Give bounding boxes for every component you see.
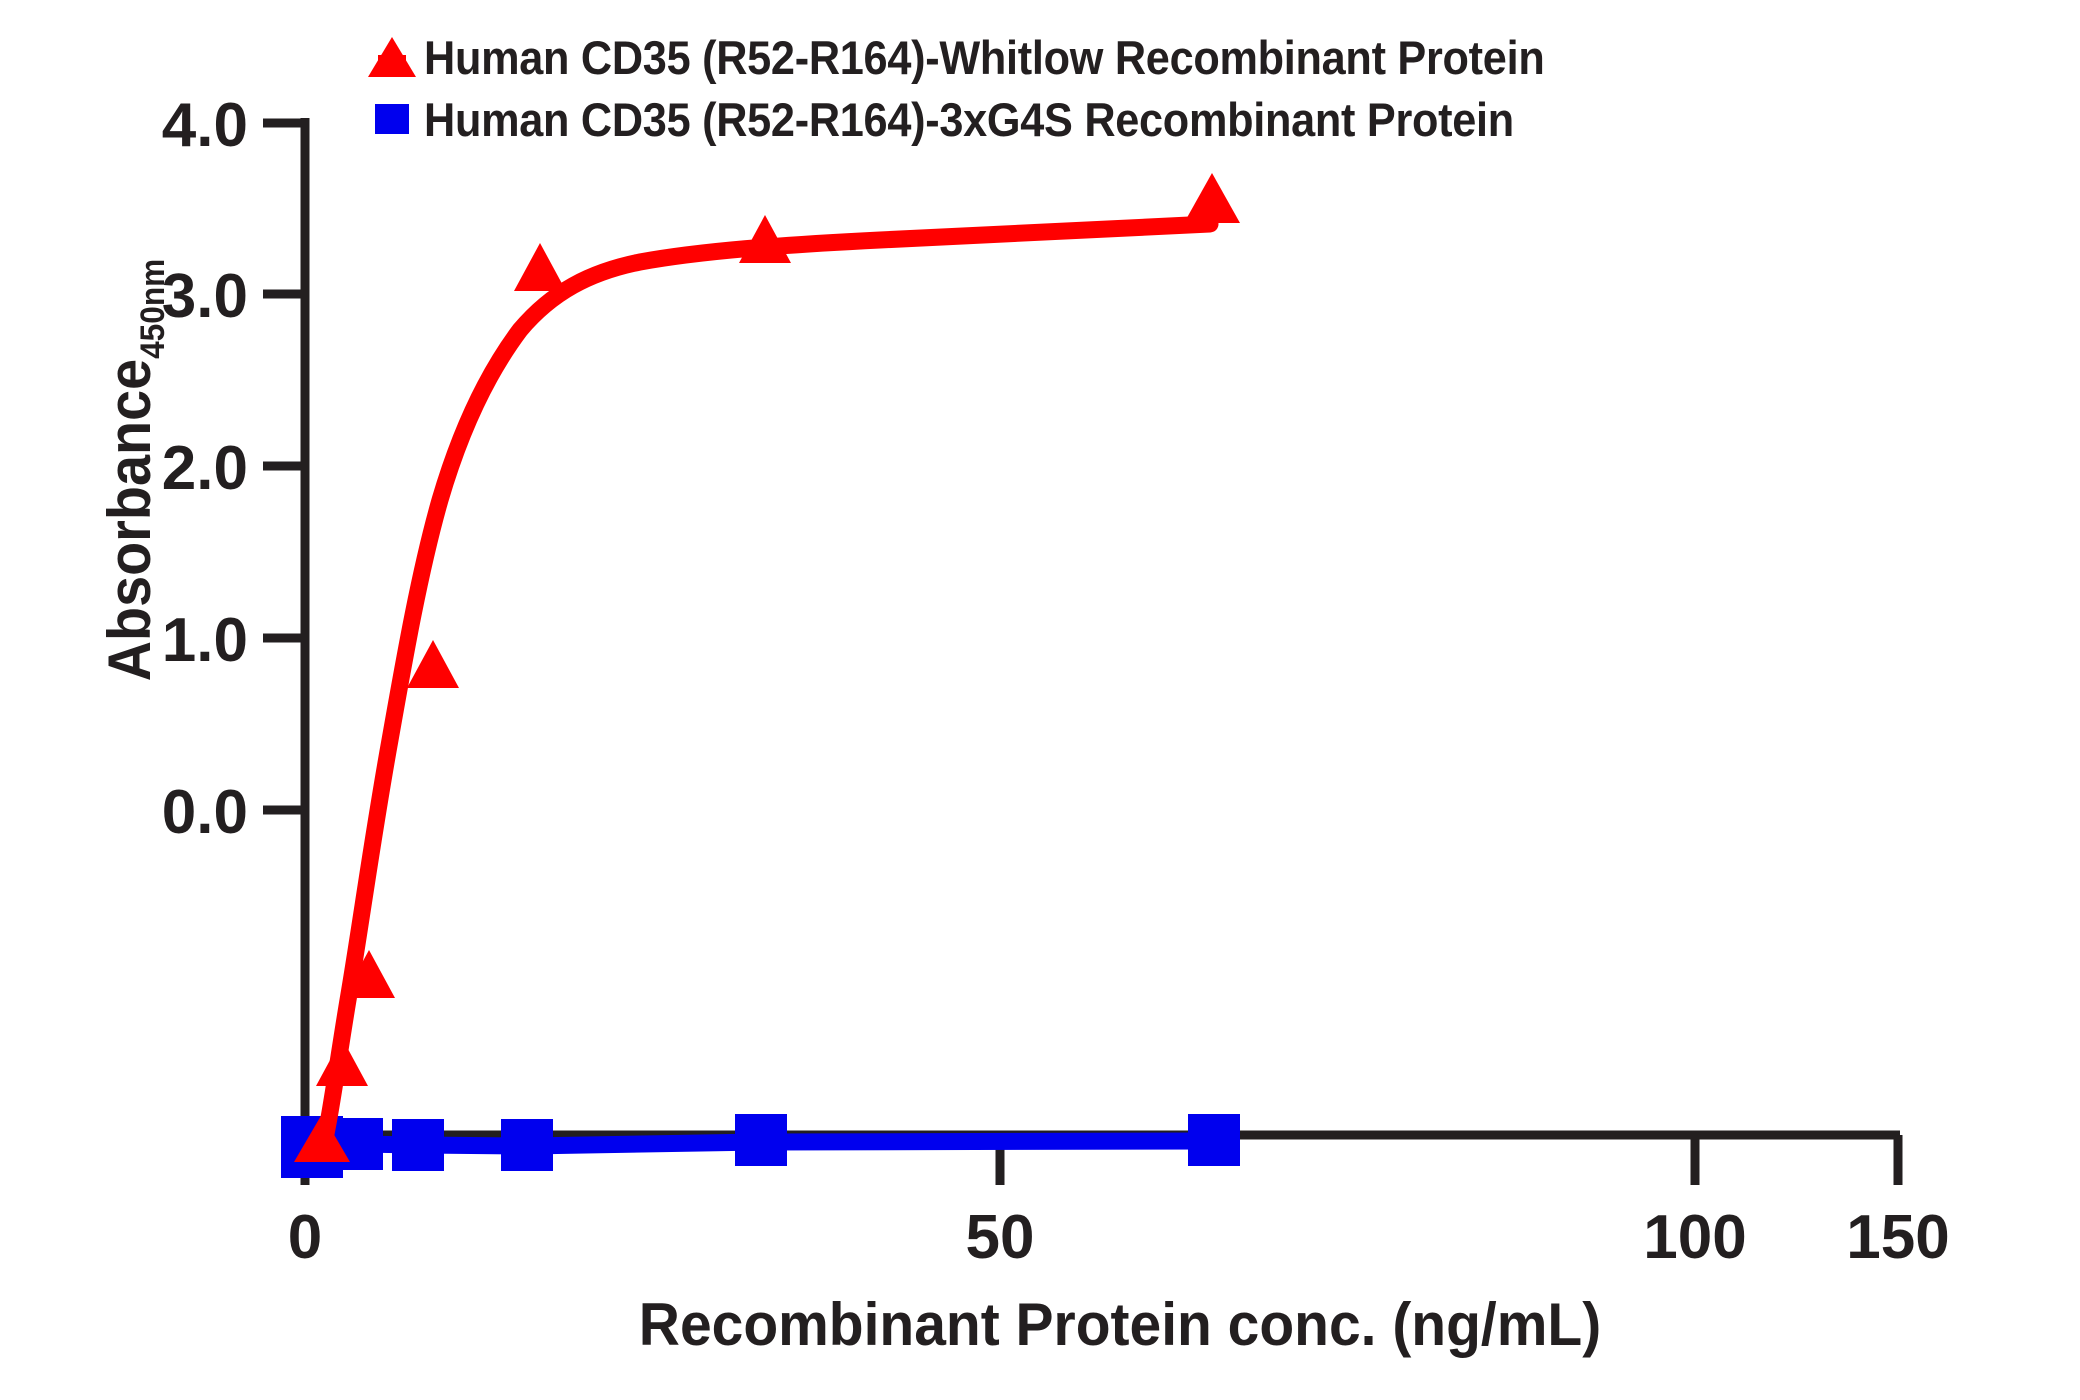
data-point-marker [392, 1119, 444, 1171]
y-axis-title: Absorbance450nm [97, 259, 171, 682]
y-tick-label: 4.0 [162, 91, 248, 160]
svg-text:Absorbance450nm: Absorbance450nm [97, 259, 171, 682]
data-point-marker [1188, 1114, 1240, 1166]
y-axis-title-subscript: 450nm [133, 259, 171, 359]
y-tick-label: 1.0 [162, 606, 248, 675]
y-axis-title-text: Absorbance [97, 359, 163, 681]
x-tick-label: 50 [966, 1203, 1035, 1272]
series-3xg4s [281, 1114, 1240, 1178]
data-point-marker [316, 1038, 368, 1086]
y-tick-label: 2.0 [162, 434, 248, 503]
y-tick-label: 0.0 [162, 778, 248, 847]
series-whitlow [294, 173, 1240, 1162]
x-tick-label: 0 [288, 1203, 322, 1272]
data-point-marker [514, 243, 566, 291]
data-point-marker [1184, 173, 1240, 223]
x-axis-title: Recombinant Protein conc. (ng/mL) [639, 1292, 1601, 1359]
data-point-marker-group [294, 173, 1240, 1162]
data-point-marker [735, 1114, 787, 1166]
x-tick-label: 150 [1846, 1203, 1949, 1272]
plot-area: 4.0 3.0 2.0 1.0 0.0 0 50 100 150 Absorba… [0, 0, 2080, 1400]
y-tick-label: 3.0 [162, 262, 248, 331]
y-axis [263, 118, 305, 1135]
chart-figure: Human CD35 (R52-R164)-Whitlow Recombinan… [0, 0, 2080, 1400]
x-tick-label: 100 [1643, 1203, 1746, 1272]
data-point-marker [501, 1119, 553, 1171]
